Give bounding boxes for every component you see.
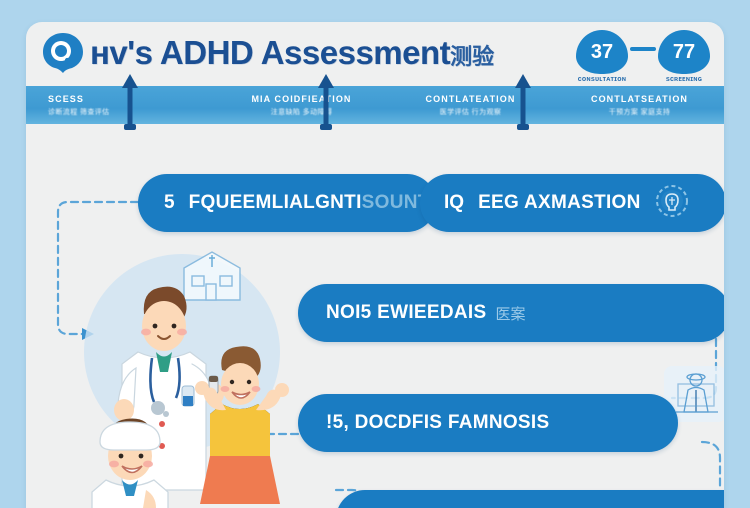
badge-connector (630, 47, 656, 51)
doctor-with-two-children-illustration (26, 218, 294, 508)
brain-scan-circle-icon (655, 184, 689, 223)
page-title-cjk: 测验 (450, 44, 494, 69)
hospital-building-sketch (184, 252, 240, 300)
nav-arrow-markers (26, 74, 724, 138)
infographic-card: ʜᴠ's ADHD Assessment测验 37 ᴄᴏɴsᴜʟᴛᴀᴛɪᴏɴ 7… (26, 22, 724, 508)
step-pill-1[interactable]: 5 FQUEEMLIALGNTISOUNT (138, 174, 436, 232)
step-label-cjk: 医案 (495, 303, 525, 324)
girl-figure (195, 346, 289, 504)
page-title: ʜᴠ's ADHD Assessment测验 (90, 34, 494, 72)
step-number: IQ (444, 192, 464, 214)
step-label: FQUEEMLIALGNTISOUNT (189, 192, 430, 214)
badge-value: 77 (658, 30, 710, 74)
badge-value: 37 (576, 30, 628, 74)
page-title-main: ʜᴠ's ADHD Assessment (90, 34, 450, 71)
step-pill-5[interactable]: BI-- EEE A EFUATEN OFF FIMETEN FEE (336, 490, 724, 508)
magnifier-circle-logo (40, 30, 86, 76)
step-label: !5, DOCDFIS FAMNOSIS (326, 412, 549, 434)
step-pill-4[interactable]: !5, DOCDFIS FAMNOSIS (298, 394, 678, 452)
step-label: EEG AXMASTION (478, 192, 641, 214)
step-label: NOI5 EWIEEDAIS (326, 302, 486, 324)
step-number: 5 (164, 192, 175, 214)
step-pill-2[interactable]: IQ EEG AXMASTION (420, 174, 724, 232)
step-pill-3[interactable]: NOI5 EWIEEDAIS 医案 (298, 284, 724, 342)
